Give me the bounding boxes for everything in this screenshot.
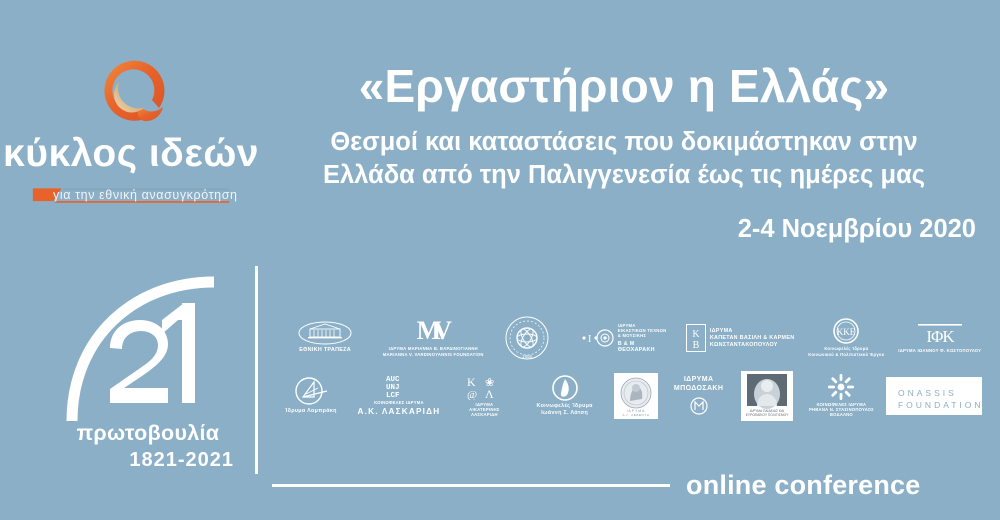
svg-text:ΕΥΡΩΠΑΪΚΟΥ ΠΟΛΙΤΙΣΜΟΥ: ΕΥΡΩΠΑΪΚΟΥ ΠΟΛΙΤΙΣΜΟΥ <box>746 413 789 417</box>
brand-tagline-banner: για την εθνική ανασυγκρότηση <box>15 185 247 211</box>
sunburst-icon <box>828 374 854 400</box>
conference-poster: κύκλος ιδεών για την εθνική ανασυγκρότησ… <box>0 0 1000 520</box>
sponsor-caption: ΚΟΙΝΩΦΕΛΕΣ ΙΔΡΥΜΑ <box>374 400 424 405</box>
footer: online conference <box>272 468 986 502</box>
sponsor-logos: ΕΘΝΙΚΗ ΤΡΑΠΕΖΑ MV ΙΔΡΥΜΑ ΜΑΡΙΑΝΝΑ Β. ΒΑΡ… <box>272 310 986 428</box>
sponsor-caption-secondary: FOUNDATION <box>898 399 984 411</box>
sponsor-caption: ΙΔΡΥΜΑ ΜΠΟΔΟΣΑΚΗ <box>674 376 723 394</box>
subtitle: Θεσμοί και καταστάσεις που δοκιμάστηκαν … <box>268 126 980 193</box>
k-at-l-monogram-icon: Κ ❀ @ Λ <box>463 374 505 400</box>
sponsor-caption: Ίδρυμα Λαμπράκη <box>285 408 337 415</box>
initiative-1821-2021-emblem: πρωτοβουλία 1821-2021 <box>58 276 238 476</box>
svg-text:B: B <box>692 340 699 351</box>
emblem-title: πρωτοβουλία <box>77 423 220 445</box>
sponsor-bodossaki-foundation: ΙΔΡΥΜΑ ΜΠΟΔΟΣΑΚΗ <box>663 368 734 423</box>
footer-divider <box>272 484 670 487</box>
svg-text:ΙΦΚ: ΙΦΚ <box>926 327 955 346</box>
event-dates: 2-4 Νοεμβρίου 2020 <box>268 215 980 244</box>
sponsor-caption-secondary: Α.Κ. ΛΑΣΚΑΡΙΔΗ <box>358 407 441 417</box>
sail-droplet-circle-icon <box>552 375 578 401</box>
svg-text:Λ: Λ <box>485 387 494 400</box>
bodossaki-circle-monogram-icon <box>690 397 708 415</box>
brand-tagline: για την εθνική ανασυγκρότηση <box>53 188 238 202</box>
svg-text:K: K <box>692 329 700 340</box>
sponsor-caption: Κοινωφελές Ίδρυμα Κοινωνικού & Πολιτιστι… <box>808 346 884 357</box>
svg-text:Α.Γ. ΛΕΒΕΝΤΗ: Α.Γ. ΛΕΒΕΝΤΗ <box>623 413 650 417</box>
framed-portrait-icon: ΙΔΡΥΜΑ ΠΑΙΔΕΙΑΣ ΚΑΙ ΕΥΡΩΠΑΪΚΟΥ ΠΟΛΙΤΙΣΜΟ… <box>741 371 793 421</box>
svg-text:LCF: LCF <box>386 392 400 398</box>
sponsor-ioannis-f-kostopoulos-foundation: ΙΦΚ ΙΔΡΥΜΑ ΙΩΑΝΝΟΥ Φ. ΚΩΣΤΟΠΟΥΛΟΥ <box>894 310 986 365</box>
auc-und-lcf-blocks-icon: AUC UNJ LCF <box>384 374 414 398</box>
vertical-divider <box>255 266 258 474</box>
svg-text:1956: 1956 <box>522 354 533 359</box>
sponsor-caption: ONASSIS <box>898 387 957 399</box>
sponsor-idryma-evgenidou: 1956 <box>488 310 565 365</box>
sponsor-ethniki-trapeza: ΕΘΝΙΚΗ ΤΡΑΠΕΖΑ <box>272 310 378 365</box>
onassis-wordmark-icon: ONASSIS FOUNDATION <box>886 377 982 415</box>
emblem-years: 1821-2021 <box>129 450 238 470</box>
sponsor-aikaterini-laskaridis-foundation: Κ ❀ @ Λ ΙΔΡΥΜΑ ΑΙΚΑΤΕΡΙΝΗΣ ΛΑΣΚΑΡΙΔΗ <box>448 368 520 423</box>
sponsor-caption-secondary: B & M ΘΕΟΧΑΡΑΚΗ <box>618 341 655 355</box>
sponsor-ak-laskaridis-foundation: AUC UNJ LCF ΚΟΙΝΩΦΕΛΕΣ ΙΔΡΥΜΑ Α.Κ. ΛΑΣΚΑ… <box>350 368 449 423</box>
svg-text:@: @ <box>467 389 477 400</box>
svg-text:UNJ: UNJ <box>386 384 400 392</box>
sponsor-caption: Κοινωφελές Ίδρυμα Ιωάννη Σ. Λάτση <box>537 403 593 417</box>
sponsor-kostopoulos-foundation: ΚΚΕ Κοινωφελές Ίδρυμα Κοινωνικού & Πολιτ… <box>799 310 893 365</box>
sponsor-caption: ΕΘΝΙΚΗ ΤΡΑΠΕΖΑ <box>299 347 351 354</box>
sponsor-ioannis-s-latsis-foundation: Κοινωφελές Ίδρυμα Ιωάννη Σ. Λάτση <box>521 368 609 423</box>
svg-text:AUC: AUC <box>386 376 400 384</box>
arc-21-icon <box>62 276 234 421</box>
brand-name: κύκλος ιδεών <box>3 134 259 173</box>
coin-portrait-icon: ΙΔΡΥΜΑ Α.Γ. ΛΕΒΕΝΤΗ <box>614 373 658 419</box>
sponsor-ag-leventis-foundation: ΙΔΡΥΜΑ Α.Γ. ΛΕΒΕΝΤΗ <box>609 368 664 423</box>
sponsor-caption: ΙΔΡΥΜΑ ΜΑΡΙΑΝΝΑ Β. ΒΑΡΔΙΝΟΓΙΑΝΝΗ MARIANN… <box>383 346 484 357</box>
sponsor-caption: ΙΔΡΥΜΑ ΚΑΠΕΤΑΝ ΒΑΣΙΛΗ & ΚΑΡΜΕΝ ΚΩΝΣΤΑΝΤΑ… <box>710 328 795 348</box>
subtitle-line-1: Θεσμοί και καταστάσεις που δοκιμάστηκαν … <box>268 126 980 160</box>
brand-block: κύκλος ιδεών για την εθνική ανασυγκρότησ… <box>0 52 262 212</box>
subtitle-line-2: Ελλάδα από την Παλιγγενεσία έως τις ημέρ… <box>268 159 980 193</box>
neoclassical-building-oval-icon <box>298 321 352 345</box>
eye-target-icon: I <box>580 327 614 349</box>
ifk-monogram-icon: ΙΦΚ <box>912 322 968 346</box>
page-title: «Εργαστήριον η Ελλάς» <box>268 62 980 112</box>
sponsor-kapetan-vasilis-karmen-konstantakopoulou-foundation: K B ΙΔΡΥΜΑ ΚΑΠΕΤΑΝ ΒΑΣΙΛΗ & ΚΑΡΜΕΝ ΚΩΝΣΤ… <box>681 310 799 365</box>
sail-circle-icon <box>294 376 328 406</box>
sponsor-caption: ΙΔΡΥΜΑ ΕΙΚΑΣΤΙΚΩΝ ΤΕΧΝΩΝ & ΜΟΥΣΙΚΗΣ <box>618 323 667 339</box>
kyklos-ideon-spiral-icon <box>85 52 177 132</box>
svg-text:ΚΚΕ: ΚΚΕ <box>837 327 856 337</box>
headline-block: «Εργαστήριον η Ελλάς» Θεσμοί και καταστά… <box>268 62 980 244</box>
sponsor-b-m-theocharakis-foundation: I ΙΔΡΥΜΑ ΕΙΚΑΣΤΙΚΩΝ ΤΕΧΝΩΝ & ΜΟΥΣΙΚΗΣ B … <box>565 310 681 365</box>
kvk-boxed-monogram-icon: K B <box>686 324 706 352</box>
sponsor-marianna-vardinoyannis-foundation: MV ΙΔΡΥΜΑ ΜΑΡΙΑΝΝΑ Β. ΒΑΡΔΙΝΟΓΙΑΝΝΗ MARI… <box>378 310 488 365</box>
kke-circle-monogram-icon: ΚΚΕ <box>833 318 859 344</box>
sponsor-lambrakis-foundation: Ίδρυμα Λαμπράκη <box>272 368 350 423</box>
mv-monogram-icon: MV <box>417 318 450 344</box>
sponsor-onassis-foundation: ONASSIS FOUNDATION <box>882 368 986 423</box>
sponsor-caption: ΙΔΡΥΜΑ ΑΙΚΑΤΕΡΙΝΗΣ ΛΑΣΚΑΡΙΔΗ <box>469 402 500 418</box>
svg-text:I: I <box>588 334 591 345</box>
sponsor-caption: ΙΔΡΥΜΑ ΙΩΑΝΝΟΥ Φ. ΚΩΣΤΟΠΟΥΛΟΥ <box>898 348 981 353</box>
sponsor-row-1: ΕΘΝΙΚΗ ΤΡΑΠΕΖΑ MV ΙΔΡΥΜΑ ΜΑΡΙΑΝΝΑ Β. ΒΑΡ… <box>272 310 986 365</box>
svg-text:Κ: Κ <box>467 375 476 389</box>
sponsor-row-2: Ίδρυμα Λαμπράκη AUC UNJ LCF ΚΟΙΝΩΦΕΛΕΣ Ι… <box>272 368 986 423</box>
conference-format-label: online conference <box>686 470 920 501</box>
sponsor-stavros-niarchos-bodossaki-sunburst: ΚΟΙΝΩΦΕΛΕΣ ΙΔΡΥΜΑ ΡΗΒΑΝΑ Ν. ΣΤΑΣΙΝΟΠΟΥΛΟ… <box>801 368 882 423</box>
sponsor-idryma-paideias-kai-evropaikou-politismou: ΙΔΡΥΜΑ ΠΑΙΔΕΙΑΣ ΚΑΙ ΕΥΡΩΠΑΪΚΟΥ ΠΟΛΙΤΙΣΜΟ… <box>734 368 801 423</box>
sponsor-caption: ΚΟΙΝΩΦΕΛΕΣ ΙΔΡΥΜΑ ΡΗΒΑΝΑ Ν. ΣΤΑΣΙΝΟΠΟΥΛΟ… <box>809 402 874 418</box>
atom-gear-seal-icon: 1956 <box>505 316 549 360</box>
